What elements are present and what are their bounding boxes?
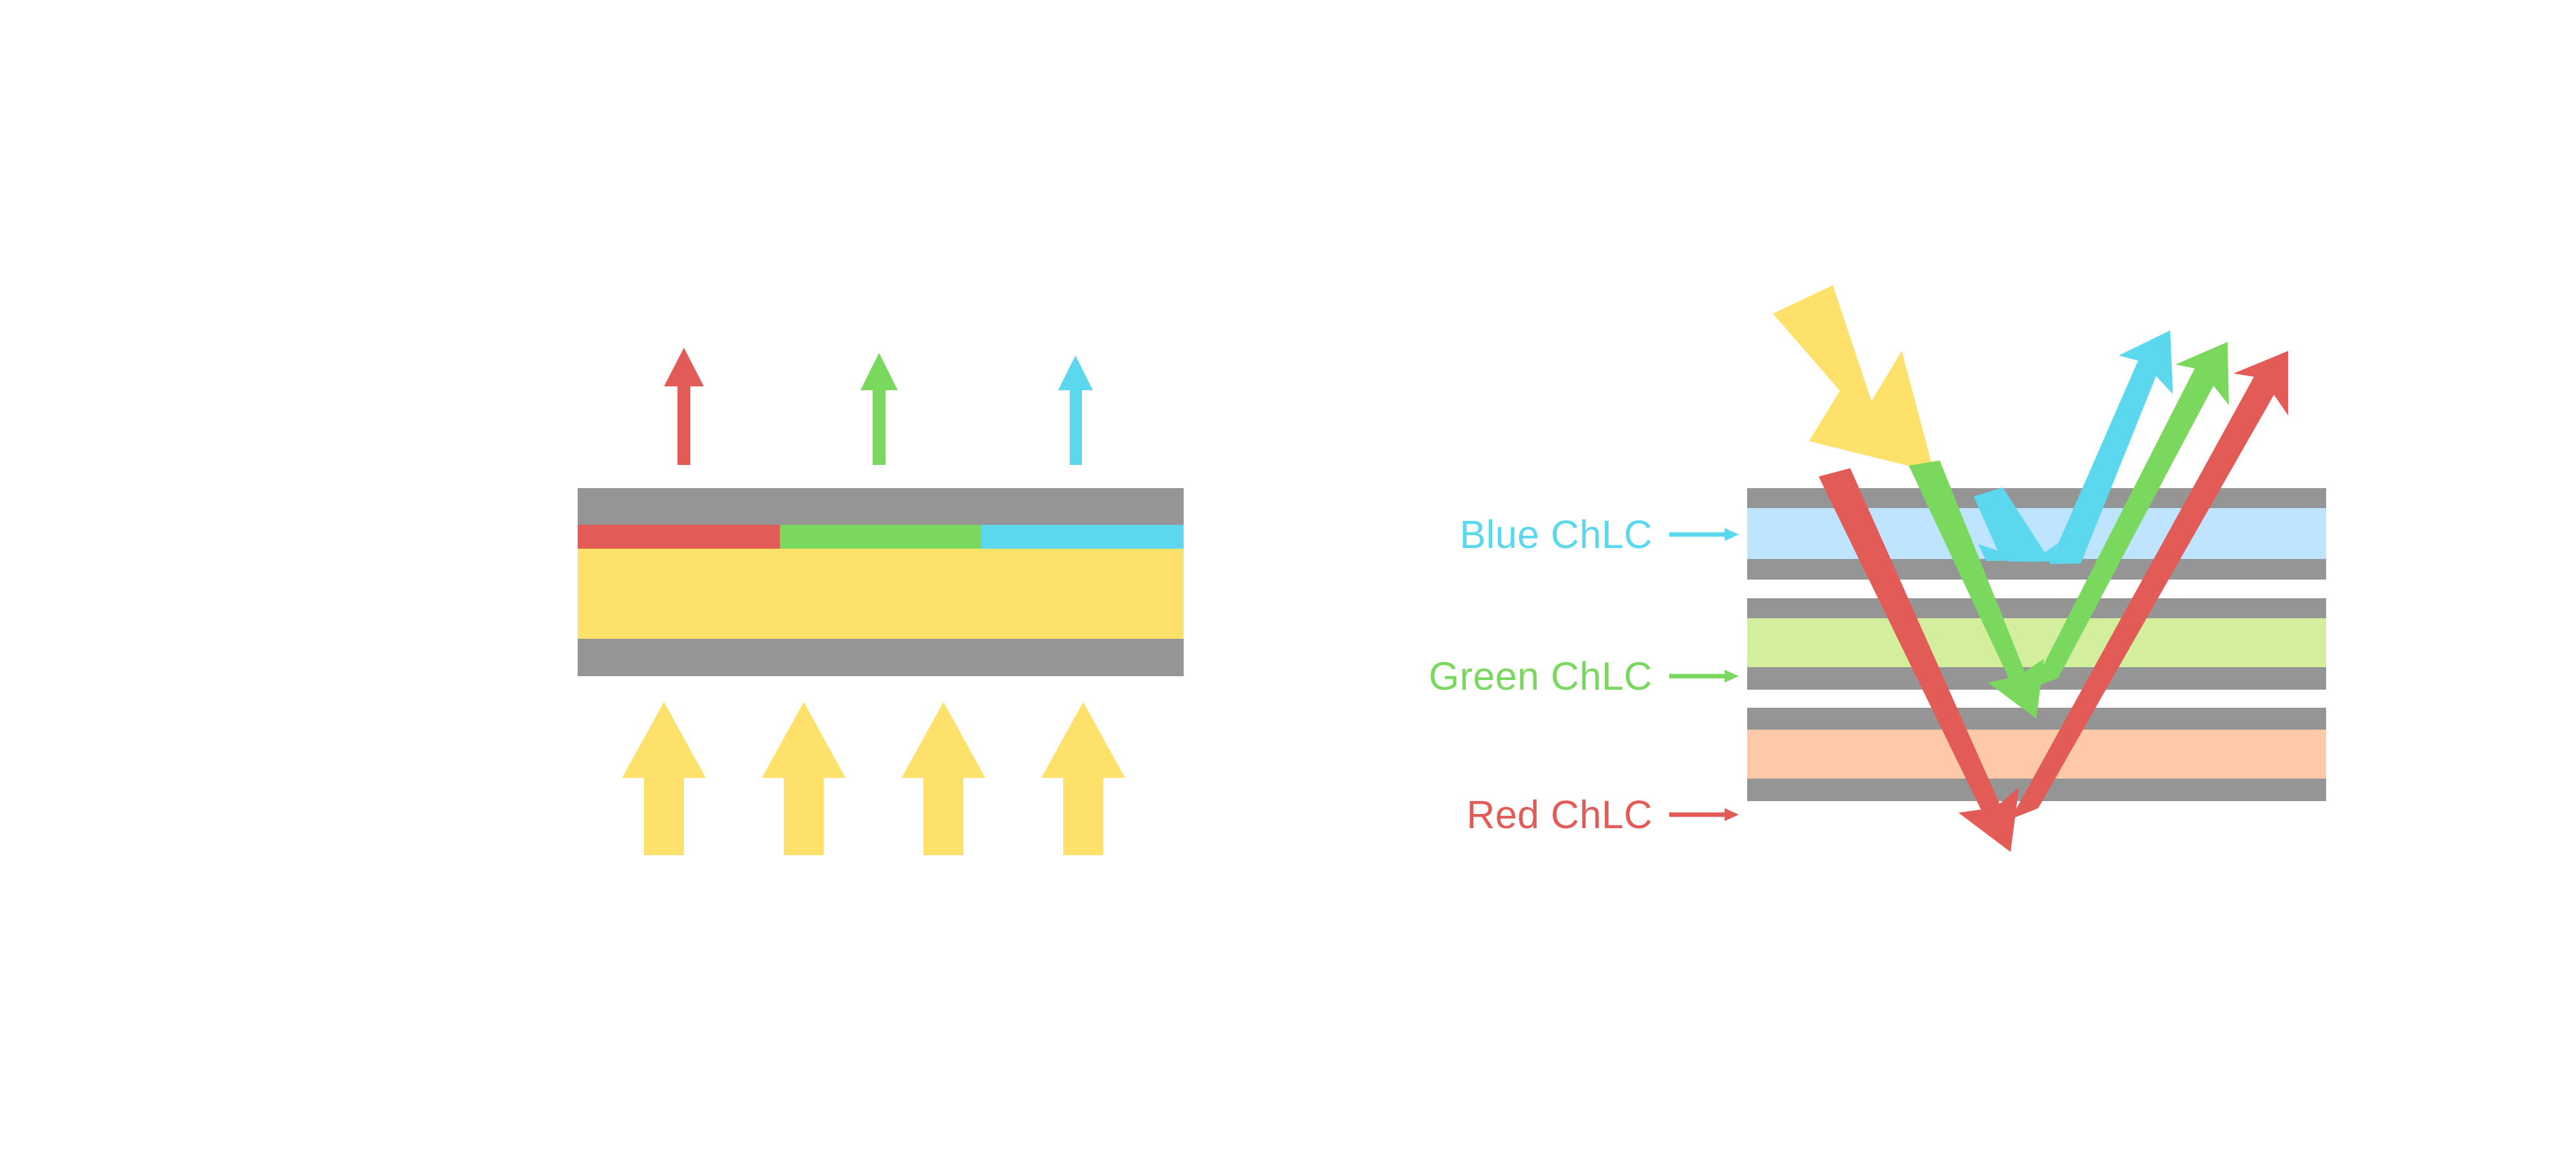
green-chlc-label: Green ChLC	[1359, 652, 1739, 700]
cyan-incident-ray	[1974, 487, 2058, 562]
cyan-reflected-ray	[2049, 330, 2173, 564]
green-chlc-arrow-icon	[1669, 665, 1739, 687]
red-chlc-arrow-icon	[1669, 804, 1739, 826]
red-reflected-ray	[2011, 351, 2288, 819]
blue-chlc-arrow-icon	[1669, 524, 1739, 545]
diagram-canvas: Blue ChLC Green ChLC Red ChLC	[0, 0, 2576, 1154]
red-chlc-label: Red ChLC	[1391, 791, 1739, 838]
chlc-ray-group	[0, 0, 2576, 1154]
red-chlc-label-text: Red ChLC	[1466, 795, 1653, 835]
blue-chlc-label-text: Blue ChLC	[1460, 515, 1653, 554]
green-chlc-label-text: Green ChLC	[1429, 657, 1653, 696]
blue-chlc-label: Blue ChLC	[1391, 511, 1739, 558]
